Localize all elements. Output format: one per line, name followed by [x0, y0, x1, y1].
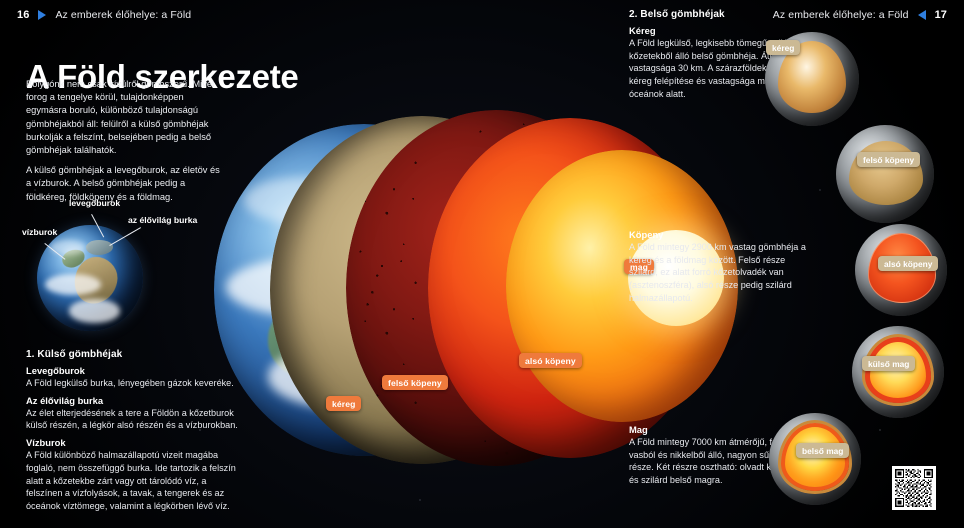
subsection-hydrosphere-text: A Föld különböző halmazállapotú vizeit m… — [26, 449, 242, 513]
cloud-shape — [69, 299, 120, 322]
subsection-hydrosphere-title: Vízburok — [26, 437, 242, 448]
cutaway-label-upper-mantle: felső köpeny — [382, 375, 448, 390]
section-outer-shells: 1. Külső gömbhéjak Levegőburok A Föld le… — [26, 349, 242, 513]
lead-paragraph-2: A külső gömbhéjak a levegőburok, az élet… — [26, 164, 222, 204]
cutaway-label-lower-mantle: alsó köpeny — [519, 353, 582, 368]
subsection-biosphere-text: Az élet elterjedésének a tere a Földön a… — [26, 407, 242, 432]
qr-code[interactable] — [892, 466, 936, 510]
globe-upper-mantle — [836, 125, 934, 223]
triangle-left-icon — [918, 10, 926, 20]
folio-left: 16 — [17, 9, 29, 21]
globe-label-crust: kéreg — [766, 40, 800, 55]
folio-right: 17 — [935, 9, 947, 21]
lead-paragraph-1: Bolygónk nem csak kívülről gömbszerű. Mi… — [26, 78, 222, 157]
subsection-biosphere-title: Az élővilág burka — [26, 395, 242, 406]
running-head-left-label: Az emberek élőhelye: a Föld — [55, 9, 191, 21]
globe-label-upper-mantle: felső köpeny — [857, 152, 920, 167]
section-mantle-text: A Föld mintegy 2900 km vastag gömbhéja a… — [629, 241, 809, 305]
section-inner-heading: 2. Belső gömbhéjak — [629, 9, 809, 20]
subsection-atmosphere-title: Levegőburok — [26, 365, 242, 376]
section-mantle: Köpeny A Föld mintegy 2900 km vastag göm… — [629, 224, 809, 305]
mini-earth-label-water: vízburok — [22, 227, 57, 237]
cutaway-label-crust: kéreg — [326, 396, 361, 411]
cloud-shape — [45, 274, 100, 295]
globe-label-outer-core: külső mag — [862, 356, 915, 371]
globe-label-inner-core: belső mag — [796, 443, 849, 458]
earth-cutaway-illustration — [214, 104, 684, 476]
globe-label-lower-mantle: alsó köpeny — [878, 256, 938, 271]
landmass-shape — [86, 240, 114, 255]
section-outer-heading: 1. Külső gömbhéjak — [26, 349, 242, 360]
mini-earth-label-biosphere: az élővilág burka — [128, 215, 197, 225]
running-head-left: 16 Az emberek élőhelye: a Föld — [17, 9, 191, 21]
lead-paragraphs: Bolygónk nem csak kívülről gömbszerű. Mi… — [26, 78, 222, 211]
globe-inner-core — [769, 413, 861, 505]
subsection-crust-title: Kéreg — [629, 25, 809, 36]
globe-outer-core — [852, 326, 944, 418]
triangle-right-icon — [38, 10, 46, 20]
subsection-atmosphere-text: A Föld legkülső burka, lényegében gázok … — [26, 377, 242, 390]
mini-earth-globe — [37, 225, 143, 331]
section-mantle-title: Köpeny — [629, 229, 809, 240]
mini-earth-label-air: levegőburok — [69, 198, 120, 208]
page-spread: 16 Az emberek élőhelye: a Föld Az embere… — [0, 0, 964, 528]
